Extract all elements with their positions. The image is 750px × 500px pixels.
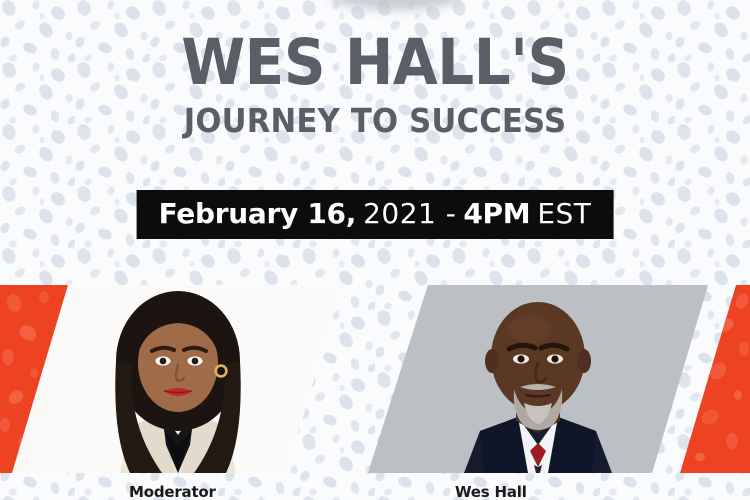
speaker-name-moderator: Moderator xyxy=(129,483,216,500)
page-title: WES HALL'S xyxy=(30,30,720,96)
event-poster: WES HALL'S JOURNEY TO SUCCESS February 1… xyxy=(0,0,750,500)
speaker-name-weshall: Wes Hall xyxy=(455,483,527,500)
speaker-photo-frame-moderator xyxy=(12,285,342,473)
banner-month-day: February 16, xyxy=(159,197,356,230)
headline-block: WES HALL'S JOURNEY TO SUCCESS xyxy=(0,30,750,138)
speaker-photo-frame-weshall xyxy=(368,285,708,473)
page-subtitle: JOURNEY TO SUCCESS xyxy=(26,103,724,138)
date-time-banner: February 16, 2021 - 4PM EST xyxy=(137,190,614,239)
banner-year: 2021 - xyxy=(363,197,456,230)
banner-timezone: EST xyxy=(537,197,591,230)
speaker-photo-weshall xyxy=(368,285,708,473)
banner-time: 4PM xyxy=(463,197,530,230)
speaker-photo-moderator xyxy=(12,285,342,473)
speaker-photo-band xyxy=(0,285,750,473)
